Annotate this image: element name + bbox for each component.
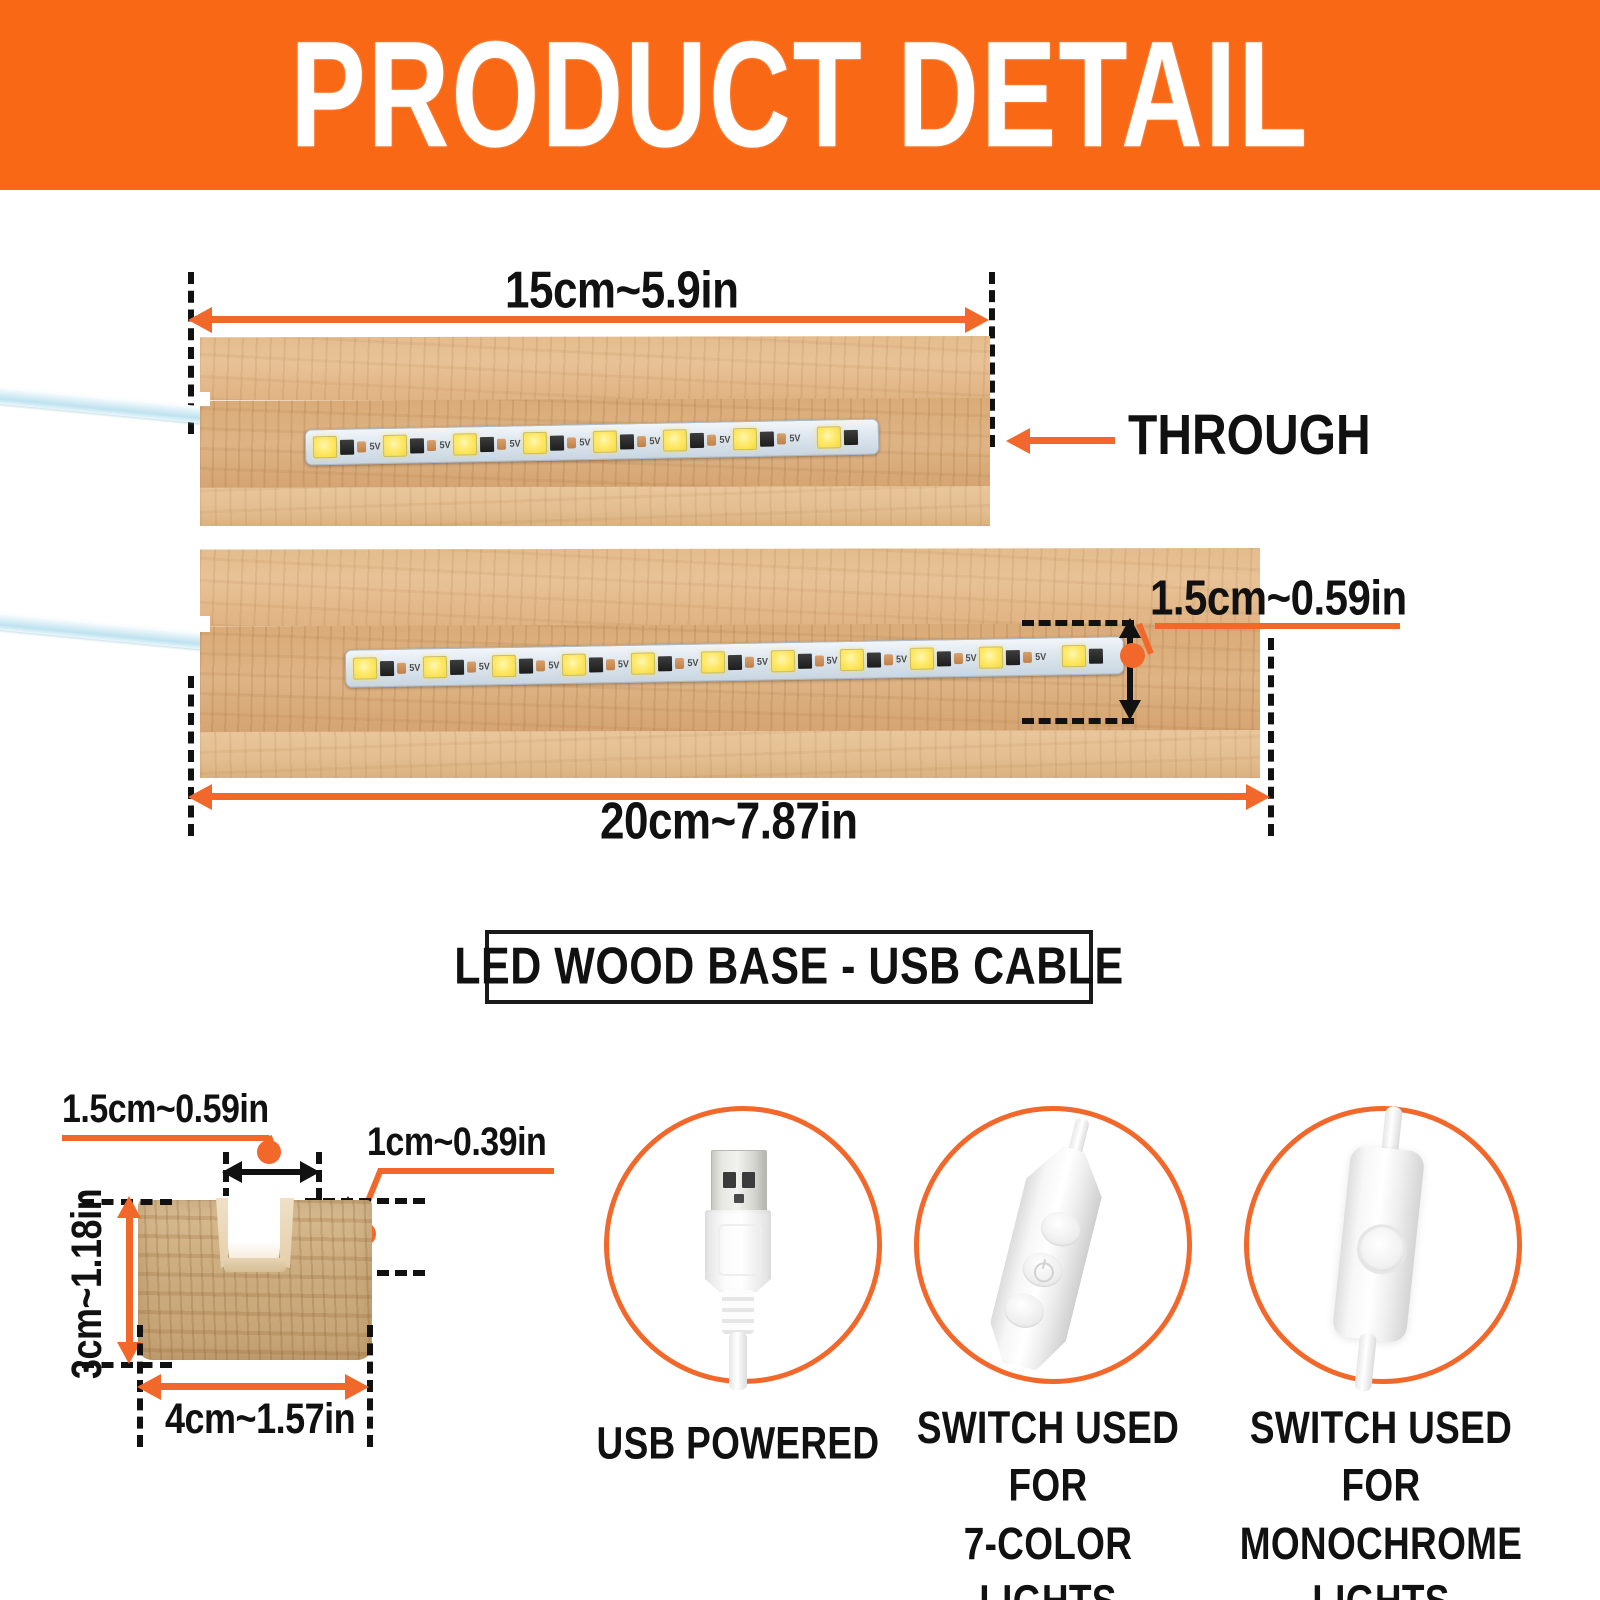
led-solder-pad-icon [497,438,506,449]
dimension-extension-left-bottom [188,676,194,836]
led-voltage-label: 5V [409,662,420,673]
led-resistor-icon [340,439,354,454]
led-segment: 5V [421,648,491,685]
through-callout-arrow [1006,428,1030,454]
xsec-groove-width-arrow-right [300,1161,320,1183]
groove-bottom-extension [1022,718,1134,724]
xsec-height-label: 3cm~1.18in [62,1189,112,1379]
board-left-chamfer [200,616,210,632]
led-segment: 5V [769,642,839,679]
led-resistor-icon [797,653,811,668]
led-voltage-label: 5V [687,657,698,668]
led-segment: 5V [560,646,630,683]
xsec-groove-width-leader [62,1135,269,1141]
board-left-chamfer [200,392,210,406]
led-segment: 5V [662,422,733,457]
led-resistor-icon [1089,648,1103,663]
led-resistor-icon [760,431,774,446]
led-solder-pad-icon [467,661,476,672]
dimension-arrow-right-20cm [1246,784,1270,810]
led-voltage-label: 5V [439,439,450,450]
led-voltage-label: 5V [548,660,559,671]
feature-caption-line2: MONOCHROME LIGHTS [1216,1515,1546,1600]
feature-caption-line1: SWITCH USED FOR [1216,1399,1546,1515]
xsec-width-label: 4cm~1.57in [165,1394,355,1444]
page-title: PRODUCT DETAIL [290,19,1309,170]
led-chip-icon [1061,645,1085,667]
board-front-lip [200,730,1260,778]
dimension-arrow-right-15cm [965,307,989,333]
led-segment: 5V [699,643,769,680]
led-voltage-label: 5V [509,438,520,449]
xsec-groove-depth-leader [378,1168,554,1174]
led-solder-pad-icon [884,654,893,665]
led-segment: 5V [838,641,908,678]
led-solder-pad-icon [397,662,406,673]
groove-height-arrow-down [1119,700,1141,720]
xsec-groove-width-line [238,1169,303,1175]
led-resistor-icon [867,652,881,667]
dimension-arrow-left-15cm [188,307,212,333]
led-resistor-icon [450,659,464,674]
led-chip-icon [523,432,547,454]
xsec-groove-width-arrow-left [222,1161,242,1183]
section-label-box: LED WOOD BASE - USB CABLE [485,930,1093,1004]
usb-connector-icon [705,1150,771,1385]
led-voltage-label: 5V [789,432,800,443]
power-cable-top [0,386,215,424]
xsec-width-line [155,1383,353,1390]
led-resistor-icon [380,660,394,675]
led-chip-icon [631,652,655,674]
section-label-text: LED WOOD BASE - USB CABLE [454,938,1123,997]
xsec-width-arrow-left [137,1374,161,1400]
groove-leader-dot [1120,643,1145,668]
board-top-bevel-face [200,336,990,400]
led-chip-icon [313,436,337,458]
xsec-height-line [126,1216,133,1346]
led-solder-pad-icon [814,655,823,666]
led-segment: 5V [491,647,561,684]
led-segment: 5V [382,428,453,463]
board-top-bevel-face [200,548,1260,626]
feature-caption-7color: SWITCH USED FOR 7-COLOR LIGHTS [898,1399,1198,1600]
led-chip-icon [593,431,617,453]
led-resistor-icon [728,654,742,669]
led-chip-icon [701,651,725,673]
through-callout-line [1030,437,1115,444]
led-voltage-label: 5V [757,656,768,667]
led-solder-pad-icon [357,441,366,452]
led-chip-icon [979,646,1003,668]
led-voltage-label: 5V [479,661,490,672]
led-chip-icon [840,649,864,671]
led-chip-icon [353,657,377,679]
xsec-groove-depth-label: 1cm~0.39in [367,1119,546,1165]
led-segment: 5V [452,426,523,461]
led-segment [1047,637,1117,674]
led-chip-icon [770,650,794,672]
led-segment: 5V [732,421,803,456]
led-resistor-icon [936,651,950,666]
led-solder-pad-icon [567,437,576,448]
led-resistor-icon [690,432,704,447]
led-resistor-icon [1006,650,1020,665]
power-cable-bottom [0,612,215,650]
through-label: THROUGH [1128,403,1371,468]
led-resistor-icon [410,438,424,453]
led-resistor-icon [550,435,564,450]
product-detail-page: PRODUCT DETAIL 15cm~5.9in 5V 5V [0,0,1600,1600]
led-resistor-icon [658,656,672,671]
led-chip-icon [423,656,447,678]
led-solder-pad-icon [536,660,545,671]
board-front-lip [200,486,990,526]
feature-caption-line1: SWITCH USED FOR [898,1399,1198,1515]
led-chip-icon [492,655,516,677]
led-solder-pad-icon [427,439,436,450]
led-solder-pad-icon [707,434,716,445]
dimension-label-15cm: 15cm~5.9in [505,262,739,321]
wood-cross-section [138,1200,372,1360]
led-segment: 5V [630,645,700,682]
dimension-arrow-left-20cm [188,784,212,810]
led-voltage-label: 5V [649,435,660,446]
led-voltage-label: 5V [618,658,629,669]
led-segment: 5V [522,425,593,460]
xsec-groove-width-label: 1.5cm~0.59in [62,1086,269,1132]
feature-caption-line2: 7-COLOR LIGHTS [898,1515,1198,1600]
led-chip-icon [383,435,407,457]
led-segment [802,420,873,455]
led-voltage-label: 5V [719,434,730,445]
led-solder-pad-icon [675,657,684,668]
feature-caption-usb: USB POWERED [588,1415,888,1473]
xsec-height-arrow-up [117,1196,141,1218]
feature-caption-monochrome: SWITCH USED FOR MONOCHROME LIGHTS [1216,1399,1546,1600]
header-banner: PRODUCT DETAIL [0,0,1600,190]
led-resistor-icon [480,436,494,451]
led-solder-pad-icon [1023,651,1032,662]
xsec-groove-floor [224,1258,286,1272]
groove-height-label: 1.5cm~0.59in [1150,570,1407,627]
feature-caption-line1: USB POWERED [588,1415,888,1473]
led-solder-pad-icon [745,656,754,667]
led-segment: 5V [908,640,978,677]
led-chip-icon [663,429,687,451]
led-solder-pad-icon [954,653,963,664]
groove-top-extension [1022,620,1134,626]
led-segment: 5V [352,649,422,686]
led-solder-pad-icon [637,435,646,446]
led-segment: 5V [592,424,663,459]
led-chip-icon [562,654,586,676]
led-resistor-icon [620,434,634,449]
led-voltage-label: 5V [966,652,977,663]
led-solder-pad-icon [777,433,786,444]
dimension-label-20cm: 20cm~7.87in [600,793,857,852]
led-segment: 5V [978,639,1048,676]
led-solder-pad-icon [606,659,615,670]
led-chip-icon [909,648,933,670]
led-resistor-icon [843,429,857,444]
led-voltage-label: 5V [1035,651,1046,662]
led-chip-icon [733,428,757,450]
led-segment: 5V [312,429,383,464]
led-chip-icon [453,433,477,455]
led-chip-icon [816,426,840,448]
led-voltage-label: 5V [579,437,590,448]
led-voltage-label: 5V [369,441,380,452]
led-voltage-label: 5V [826,655,837,666]
led-resistor-icon [589,657,603,672]
led-voltage-label: 5V [896,653,907,664]
led-resistor-icon [519,658,533,673]
xsec-groove-width-dot [257,1140,281,1164]
